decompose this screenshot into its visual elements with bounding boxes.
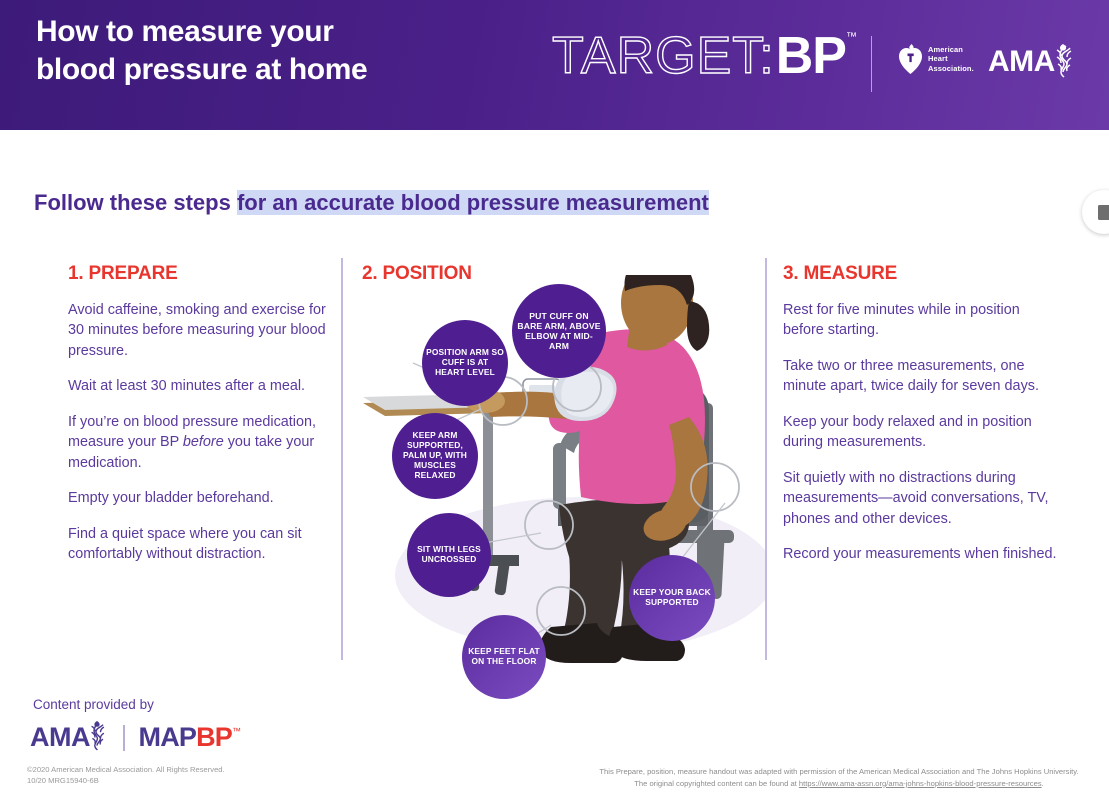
target-bp-trademark: ™ — [846, 32, 857, 43]
person-ponytail — [687, 301, 709, 351]
american-heart-association-logo: American Heart Association. — [899, 44, 974, 74]
caduceus-icon-footer — [85, 721, 109, 751]
header-logo-divider — [871, 36, 872, 92]
copyright-line-2: 10/20 MRG15940-6B — [27, 775, 225, 786]
page-title-line2: blood pressure at home — [36, 51, 367, 89]
infographic-page: How to measure your blood pressure at ho… — [0, 0, 1109, 800]
medication-emphasis: before — [183, 434, 224, 450]
footer-logo-separator — [123, 725, 125, 751]
subtitle-lead: Follow these steps — [34, 190, 237, 215]
copyright-line-1: ©2020 American Medical Association. All … — [27, 764, 225, 775]
callout-put-cuff: PUT CUFF ON BARE ARM, ABOVE ELBOW AT MID… — [512, 284, 606, 378]
attribution-line-1: This Prepare, position, measure handout … — [599, 767, 1078, 776]
ama-logo-header: AMA — [988, 46, 1077, 78]
callout-feet-flat: KEEP FEET FLAT ON THE FLOOR — [462, 615, 546, 699]
callout-position-arm: POSITION ARM SO CUFF IS AT HEART LEVEL — [422, 320, 508, 406]
column-heading-measure: 3. MEASURE — [783, 263, 897, 285]
page-fit-icon — [1098, 205, 1109, 220]
measure-paragraph-3: Keep your body relaxed and in position d… — [783, 412, 1063, 453]
attribution-link[interactable]: https://www.ama-assn.org/ama-johns-hopki… — [799, 779, 1042, 788]
prepare-paragraph-3: Empty your bladder beforehand. — [68, 488, 330, 508]
prepare-paragraph-2: Wait at least 30 minutes after a meal. — [68, 376, 330, 396]
target-bp-bp: BP — [776, 30, 846, 82]
callout-legs-uncrossed: SIT WITH LEGS UNCROSSED — [407, 513, 491, 597]
ama-wordmark-header: AMA — [988, 47, 1055, 77]
measure-paragraph-4: Sit quietly with no distractions during … — [783, 468, 1063, 529]
page-title-line1: How to measure your — [36, 13, 367, 51]
target-bp-logo: TARGET: BP ™ — [552, 30, 857, 82]
callout-keep-arm: KEEP ARM SUPPORTED, PALM UP, WITH MUSCLE… — [392, 413, 478, 499]
measure-paragraph-2: Take two or three measurements, one minu… — [783, 356, 1063, 397]
callout-back-supported: KEEP YOUR BACK SUPPORTED — [629, 555, 715, 641]
viewer-control-button[interactable] — [1082, 190, 1109, 234]
map-wordmark: MAP — [139, 724, 197, 751]
attribution-line-2: The original copyrighted content can be … — [579, 778, 1099, 790]
page-title: How to measure your blood pressure at ho… — [36, 13, 367, 90]
ama-wordmark-footer: AMA — [30, 724, 90, 751]
footer-logo-group: AMA MAP BP ™ — [30, 724, 241, 751]
aha-wordmark: American Heart Association. — [928, 45, 974, 73]
aha-line2: Heart — [928, 54, 974, 63]
map-bp-wordmark: BP — [196, 724, 232, 751]
section-subtitle: Follow these steps for an accurate blood… — [34, 190, 709, 216]
target-bp-word: TARGET: — [552, 30, 775, 82]
aha-line1: American — [928, 45, 974, 54]
column-body-prepare: Avoid caffeine, smoking and exercise for… — [68, 300, 330, 580]
column-body-measure: Rest for five minutes while in position … — [783, 300, 1063, 580]
column-divider-left — [341, 258, 343, 660]
column-heading-prepare: 1. PREPARE — [68, 263, 178, 285]
measure-paragraph-1: Rest for five minutes while in position … — [783, 300, 1063, 341]
prepare-paragraph-4: Find a quiet space where you can sit com… — [68, 524, 330, 565]
prepare-paragraph-1: Avoid caffeine, smoking and exercise for… — [68, 300, 330, 361]
column-divider-right — [765, 258, 767, 660]
subtitle-highlighted-text: for an accurate blood pressure measureme… — [237, 190, 709, 215]
heart-torch-icon — [899, 44, 922, 74]
attribution-note: This Prepare, position, measure handout … — [579, 766, 1099, 790]
prepare-paragraph-medication: If you’re on blood pressure medication, … — [68, 412, 330, 473]
caduceus-icon — [1049, 44, 1077, 78]
attribution-tail: . — [1042, 779, 1044, 788]
content-provided-by-label: Content provided by — [33, 697, 154, 712]
copyright-notice: ©2020 American Medical Association. All … — [27, 764, 225, 787]
aha-line3: Association. — [928, 64, 974, 73]
measure-paragraph-5: Record your measurements when finished. — [783, 544, 1063, 564]
map-bp-trademark: ™ — [232, 726, 241, 736]
attribution-lead: The original copyrighted content can be … — [634, 779, 799, 788]
header-banner: How to measure your blood pressure at ho… — [0, 0, 1109, 130]
